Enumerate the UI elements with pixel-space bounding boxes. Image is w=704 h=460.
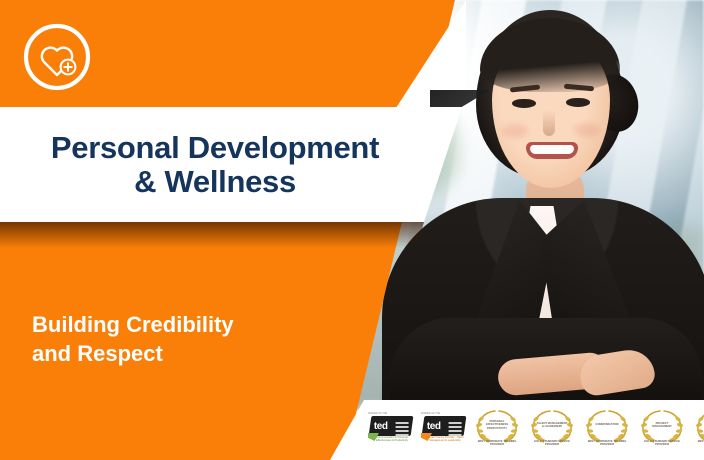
heart-medical-cross-logo[interactable] (22, 22, 92, 92)
subtitle-line-2: and Respect (32, 339, 332, 368)
ted-award-orange[interactable]: WINNER OF THE ted Overall Training Provi… (419, 412, 467, 446)
subtitle: Building Credibility and Respect (32, 310, 332, 368)
page-title: Personal Development & Wellness (0, 107, 430, 222)
laurel-caption: BEST CORPORATE TRAINING PROVIDER (694, 440, 704, 447)
laurel-inner-text: PERSONAL EFFECTIVENESS PRODUCTIVITY (481, 416, 513, 434)
ted-award-green[interactable]: WINNER OF THE ted Communication & Person… (366, 412, 414, 446)
title-line-2: & Wellness (0, 165, 430, 198)
ted-subtitle: Overall Training Provider - Talent Manag… (424, 436, 466, 442)
laurel-project-management[interactable]: PROJECT MANAGEMENT GOLD STANDARD SERVICE… (637, 407, 687, 451)
laurel-talent-management[interactable]: TALENT MANAGEMENT & LEADERSHIP GOLD STAN… (527, 407, 577, 451)
ted-subtitle: Communication & Personal Effectiveness &… (371, 436, 413, 442)
laurel-communication[interactable]: COMMUNICATION BEST CORPORATE TRAINING PR… (582, 407, 632, 451)
laurel-caption: BEST CORPORATE TRAINING PROVIDER (474, 440, 520, 447)
award-badges: WINNER OF THE ted Communication & Person… (366, 404, 702, 454)
cheek-left (502, 124, 528, 138)
cheek-right (574, 123, 600, 137)
eye-left (512, 99, 536, 108)
laurel-hr-training[interactable]: HR & PEOPLE DEVELOPMENT BEST CORPORATE T… (692, 407, 704, 451)
ted-wordmark: ted (370, 421, 388, 432)
laurel-inner-text: PROJECT MANAGEMENT (646, 416, 678, 434)
logo-svg (22, 22, 92, 92)
laurel-personal-effectiveness[interactable]: PERSONAL EFFECTIVENESS PRODUCTIVITY BEST… (472, 407, 522, 451)
slide-canvas: Personal Development & Wellness Building… (0, 0, 704, 460)
title-line-1: Personal Development (0, 131, 430, 164)
smiling-mouth (526, 142, 578, 159)
laurel-inner-text: TALENT MANAGEMENT & LEADERSHIP (536, 416, 568, 434)
teeth (530, 145, 574, 154)
laurel-caption: GOLD STANDARD SERVICE PROVIDER (639, 440, 685, 447)
ted-chip (396, 422, 409, 436)
laurel-caption: GOLD STANDARD SERVICE PROVIDER (529, 440, 575, 447)
ted-chip (449, 422, 462, 436)
laurel-caption: BEST CORPORATE TRAINING PROVIDER (584, 440, 630, 447)
nose (543, 110, 555, 136)
ted-wordmark: ted (423, 421, 441, 432)
subtitle-line-1: Building Credibility (32, 310, 332, 339)
laurel-inner-text: COMMUNICATION (591, 416, 623, 434)
eye-right (566, 98, 590, 107)
